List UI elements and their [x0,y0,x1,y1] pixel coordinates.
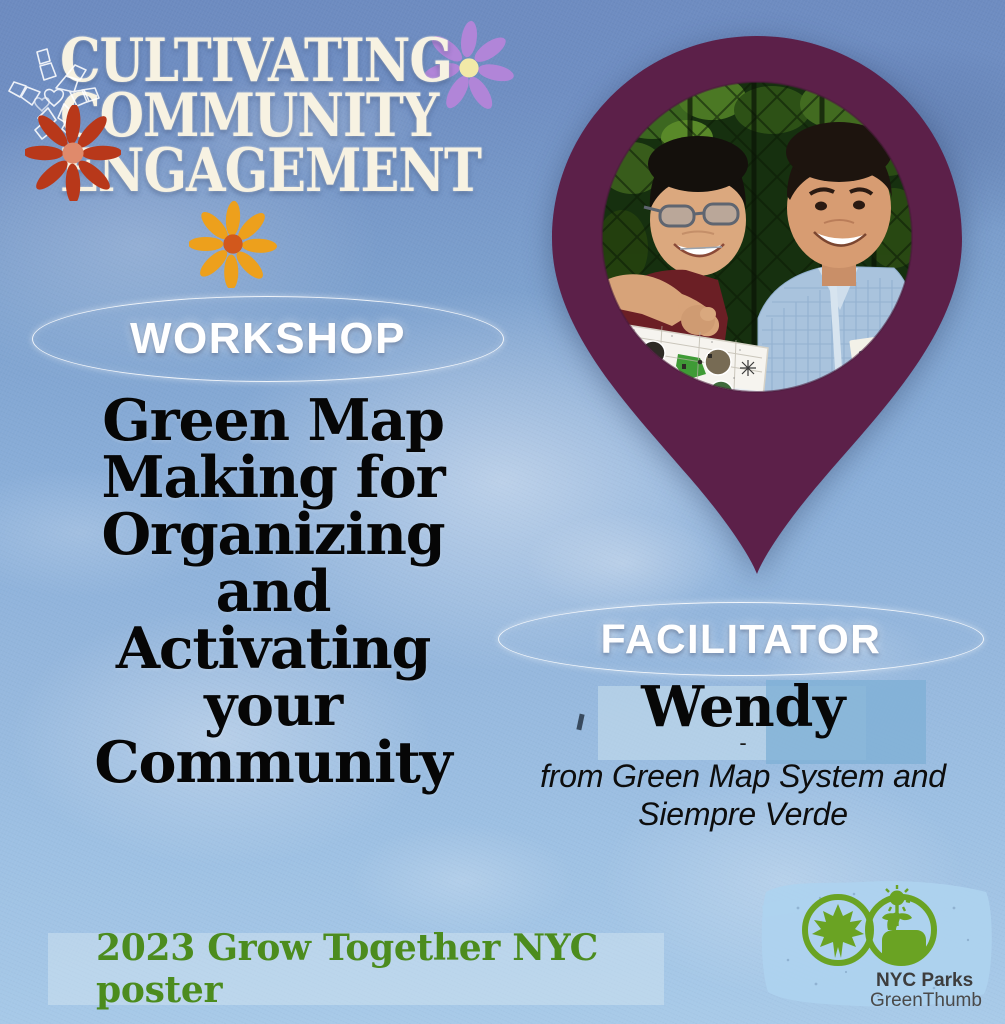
facilitator-photo-pin [522,18,992,588]
workshop-title-line-3: Organizing [38,506,508,563]
workshop-title-line-6: your [38,677,508,734]
facilitator-label-pill: FACILITATOR [498,602,984,676]
workshop-title-line-2: Making for [38,449,508,506]
workshop-label-pill: WORKSHOP [32,296,504,382]
workshop-title-line-7: Community [38,734,508,791]
workshop-title-line-5: Activating [38,620,508,677]
orange-daisy-icon [189,200,277,288]
rust-daisy-icon [25,105,121,201]
logo-text-line-1: NYC Parks [876,970,973,991]
purple-daisy-icon [421,18,517,114]
poster-canvas: Cultivating Community Engagement [0,0,1005,1024]
caption-band: 2023 Grow Together NYC poster [48,933,664,1005]
nyc-parks-greenthumb-logo: NYC Parks GreenThumb [758,868,998,1018]
logo-text-line-2: GreenThumb [870,990,982,1011]
facilitator-label: FACILITATOR [601,616,882,663]
facilitator-name: Wendy [500,678,986,737]
workshop-title-line-4: and [38,563,508,620]
workshop-title-line-1: Green Map [38,392,508,449]
caption-text: 2023 Grow Together NYC poster [96,927,664,1011]
facilitator-details: Wendy - from Green Map System and Siempr… [500,678,986,834]
facilitator-affiliation-line-2: Siempre Verde [500,796,986,834]
facilitator-dash: - [500,735,986,750]
workshop-label: WORKSHOP [130,314,406,364]
workshop-title: Green Map Making for Organizing and Acti… [38,392,508,791]
facilitator-affiliation-line-1: from Green Map System and [500,758,986,796]
